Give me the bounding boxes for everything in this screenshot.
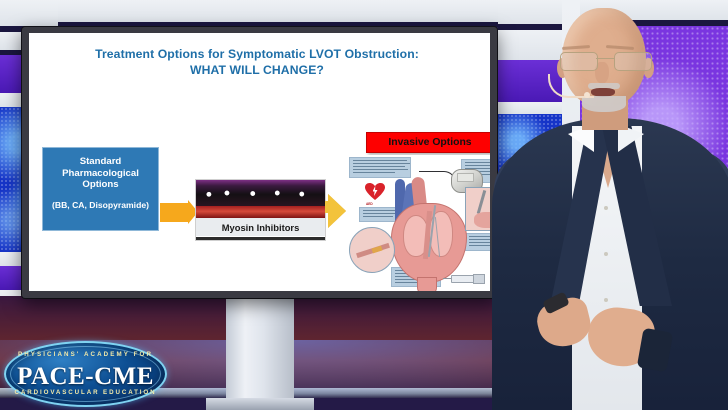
callout-box — [349, 157, 411, 178]
microphone-capsule-icon — [584, 92, 590, 98]
slide-title-line1: Treatment Options for Symptomatic LVOT O… — [95, 47, 419, 61]
presentation-display: Treatment Options for Symptomatic LVOT O… — [22, 27, 497, 298]
logo-arc-top: PHYSICIANS' ACADEMY FOR — [4, 351, 167, 358]
logo-arc-bottom: CARDIOVASCULAR EDUCATION — [4, 389, 167, 396]
shirt-button — [604, 252, 608, 256]
box-detail: (BB, CA, Disopyramide) — [52, 200, 149, 210]
display-stand — [226, 298, 294, 406]
myosin-inhibitors-label: Myosin Inhibitors — [196, 218, 325, 236]
backdrop-panel-white — [0, 0, 58, 26]
myosin-inhibitors-panel: Myosin Inhibitors — [195, 179, 326, 241]
presenter-goatee — [582, 96, 626, 112]
logo-wordmark: PACE-CME — [4, 363, 167, 391]
heart-anatomy — [387, 177, 469, 287]
septal-myectomy-inset — [465, 187, 490, 231]
slide-title: Treatment Options for Symptomatic LVOT O… — [57, 47, 457, 78]
pace-cme-logo: PHYSICIANS' ACADEMY FOR PACE-CME CARDIOV… — [4, 341, 167, 407]
shirt-button — [604, 298, 608, 302]
eyeglasses-icon — [556, 52, 654, 69]
sarcomere-micrograph — [196, 180, 325, 206]
shirt-button — [604, 206, 608, 210]
backdrop-panel-white — [58, 0, 538, 22]
aed-label: AED — [366, 202, 373, 206]
standard-pharmacological-options-box: Standard Pharmacological Options (BB, CA… — [42, 147, 159, 231]
panel-footer-bar — [196, 237, 325, 240]
arrow-right-icon — [328, 194, 346, 228]
presenter — [498, 0, 728, 410]
syringe-icon — [443, 273, 483, 283]
video-frame: Treatment Options for Symptomatic LVOT O… — [0, 0, 728, 410]
catheter-inset — [349, 227, 395, 273]
aed-heart-icon — [365, 183, 385, 201]
slide-title-line2: WHAT WILL CHANGE? — [57, 63, 457, 79]
invasive-options-banner: Invasive Options — [366, 132, 490, 153]
arrow-right-icon — [160, 203, 188, 222]
display-stand-base — [206, 398, 314, 410]
heart-illustration: AED — [347, 155, 490, 291]
box-heading: Standard Pharmacological Options — [43, 156, 158, 191]
invasive-options-label: Invasive Options — [388, 137, 471, 148]
muscle-fiber-band — [196, 206, 325, 218]
slide-canvas: Treatment Options for Symptomatic LVOT O… — [29, 33, 490, 291]
